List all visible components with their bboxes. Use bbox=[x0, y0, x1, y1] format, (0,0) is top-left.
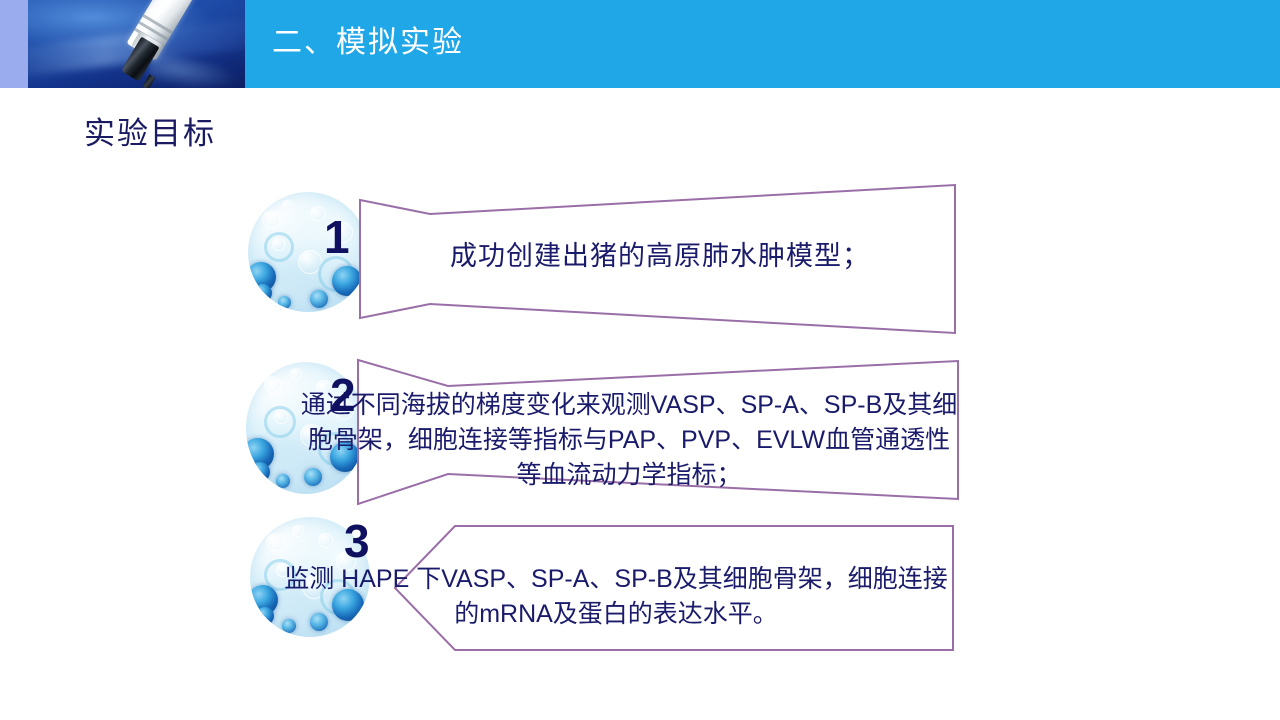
item-text-3: 监测 HAPE 下VASP、SP-A、SP-B及其细胞骨架，细胞连接的mRNA及… bbox=[280, 562, 952, 632]
header-left-strip bbox=[0, 0, 28, 88]
page-title: 二、模拟实验 bbox=[272, 16, 464, 70]
item-number-2: 2 bbox=[330, 372, 356, 418]
syringe-photo bbox=[28, 0, 245, 88]
slide-canvas: 二、模拟实验 实验目标 1 成功创建出猪的高原肺水肿模型； bbox=[0, 0, 1280, 720]
item-number-3: 3 bbox=[344, 518, 370, 564]
item-text-2: 通过不同海拔的梯度变化来观测VASP、SP-A、SP-B及其细胞骨架，细胞连接等… bbox=[300, 388, 958, 493]
decorative-circle-image-1 bbox=[248, 192, 368, 312]
item-number-1: 1 bbox=[324, 214, 350, 260]
section-heading: 实验目标 bbox=[84, 108, 216, 153]
item-text-1: 成功创建出猪的高原肺水肿模型； bbox=[390, 238, 930, 276]
